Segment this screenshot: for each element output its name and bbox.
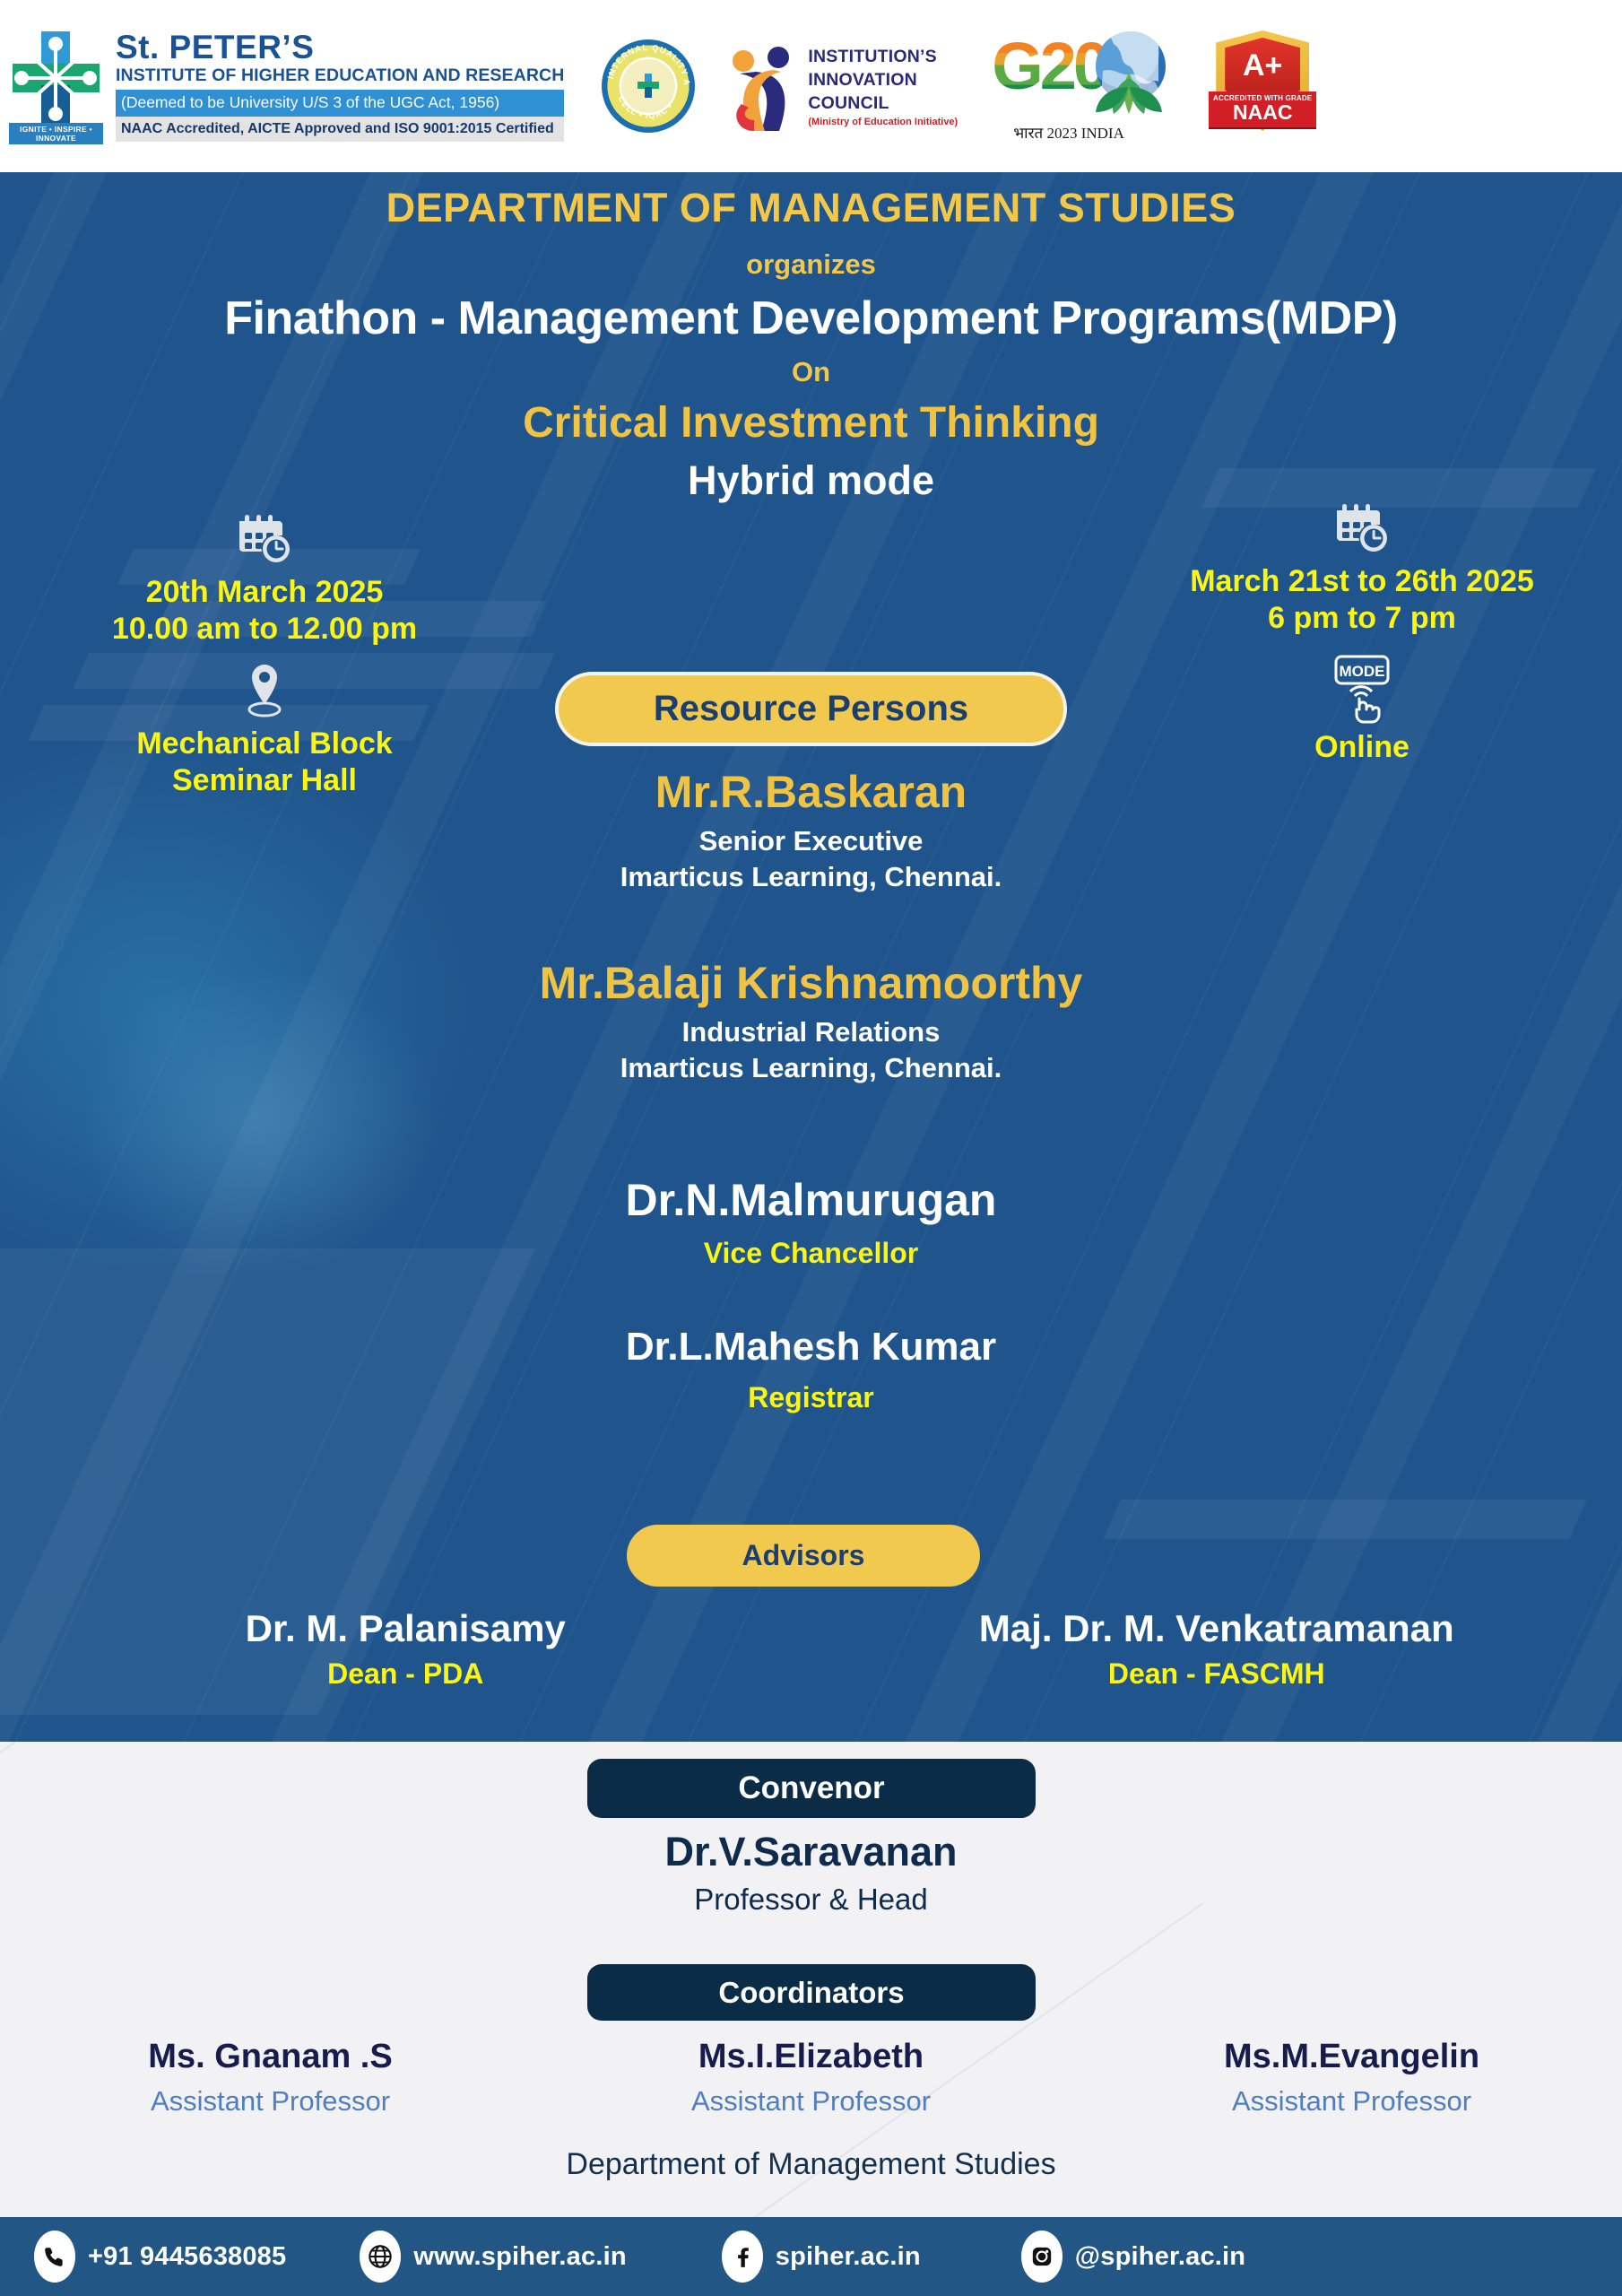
advisors-row: Dr. M. Palanisamy Dean - PDA Maj. Dr. M.… [0,1607,1622,1691]
resource-person-1-organization: Imarticus Learning, Chennai. [0,861,1622,893]
advisor-2-name: Maj. Dr. M. Venkatramanan [811,1607,1622,1650]
organizes-label: organizes [0,248,1622,281]
department-title: DEPARTMENT OF MANAGEMENT STUDIES [0,185,1622,231]
official-1-role: Vice Chancellor [0,1237,1622,1270]
coordinators-heading: Coordinators [587,1964,1036,2021]
advisor-2: Maj. Dr. M. Venkatramanan Dean - FASCMH [811,1607,1622,1691]
g20-lotus-icon [1089,69,1169,116]
background-glow-left-2 [72,961,448,1284]
official-1-name: Dr.N.Malmurugan [0,1174,1622,1226]
globe-icon [360,2231,401,2283]
poster-main-blue-section: DEPARTMENT OF MANAGEMENT STUDIES organiz… [0,172,1622,1742]
institution-logo-block: IGNITE • INSPIRE • INNOVATE St. PETER’S … [9,28,564,144]
offline-info-block: 20th March 2025 10.00 am to 12.00 pm Mec… [18,513,511,800]
offline-venue-line1: Mechanical Block [18,726,511,762]
footer-website[interactable]: www.spiher.ac.in [360,2231,626,2283]
footer-phone[interactable]: +91 9445638085 [34,2231,286,2283]
coordinators-department: Department of Management Studies [0,2147,1622,2182]
footer-instagram-label: @spiher.ac.in [1075,2242,1245,2272]
advisor-1-role: Dean - PDA [0,1657,811,1691]
footer-facebook-label: spiher.ac.in [776,2242,921,2272]
coordinator-1-name: Ms. Gnanam .S [0,2038,541,2076]
advisor-1: Dr. M. Palanisamy Dean - PDA [0,1607,811,1691]
program-title: Finathon - Management Development Progra… [0,291,1622,345]
footer-website-label: www.spiher.ac.in [413,2242,626,2272]
institution-name-line2: INSTITUTE OF HIGHER EDUCATION AND RESEAR… [116,65,564,87]
panel-stripe-1 [0,1742,28,2197]
program-mode: Hybrid mode [0,457,1622,504]
coordinator-2-role: Assistant Professor [541,2085,1081,2118]
logo-tagline: IGNITE • INSPIRE • INNOVATE [9,123,103,144]
phone-icon [34,2231,75,2283]
official-2-name: Dr.L.Mahesh Kumar [0,1325,1622,1370]
facebook-icon [722,2231,763,2283]
resource-persons-heading: Resource Persons [555,672,1067,746]
calendar-clock-icon [237,513,292,565]
naac-badge: A+ ACCREDITED WITH GRADE NAAC [1205,29,1320,143]
institution-name-block: St. PETER’S INSTITUTE OF HIGHER EDUCATIO… [116,30,564,143]
header-band: IGNITE • INSPIRE • INNOVATE St. PETER’S … [0,0,1622,172]
coordinator-1: Ms. Gnanam .S Assistant Professor [0,2038,541,2118]
naac-ribbon: ACCREDITED WITH GRADE NAAC [1209,91,1316,127]
online-time: 6 pm to 7 pm [1111,600,1613,637]
contact-footer: +91 9445638085 www.spiher.ac.in spih [0,2217,1622,2296]
online-date: March 21st to 26th 2025 [1111,563,1613,600]
iic-line1: INSTITUTION’S [808,45,958,68]
advisor-1-name: Dr. M. Palanisamy [0,1607,811,1650]
coordinator-1-role: Assistant Professor [0,2085,541,2118]
iqac-ring-text: INTERNAL QUALITY ASSURANCE CELL • IQAC • [602,39,695,133]
program-topic: Critical Investment Thinking [0,398,1622,448]
official-2-role: Registrar [0,1381,1622,1414]
on-label: On [0,356,1622,388]
iic-line3: COUNCIL [808,91,958,115]
iic-sub: (Ministry of Education Initiative) [808,117,958,127]
partner-logos: INTERNAL QUALITY ASSURANCE CELL • IQAC • [602,29,1320,143]
footer-phone-label: +91 9445638085 [88,2242,286,2272]
resource-person-2-role: Industrial Relations [0,1016,1622,1048]
convenor-role: Professor & Head [0,1883,1622,1917]
spiher-cross-logo-icon: IGNITE • INSPIRE • INNOVATE [9,28,103,144]
institution-name-line1: St. PETER’S [116,30,564,65]
coordinator-3-name: Ms.M.Evangelin [1081,2038,1622,2076]
online-mode-label: Online [1111,729,1613,766]
iqac-seal-icon: INTERNAL QUALITY ASSURANCE CELL • IQAC • [602,39,695,133]
institution-accreditation-line: NAAC Accredited, AICTE Approved and ISO … [116,117,564,143]
map-pin-icon [245,663,284,718]
resource-person-2-name: Mr.Balaji Krishnamoorthy [0,957,1622,1009]
coordinator-2-name: Ms.I.Elizabeth [541,2038,1081,2076]
instagram-icon [1021,2231,1063,2283]
g20-sub: भारत 2023 INDIA [1013,122,1124,143]
svg-text:INTERNAL QUALITY ASSURANCE: INTERNAL QUALITY ASSURANCE [602,39,692,86]
convenor-name: Dr.V.Saravanan [0,1829,1622,1875]
resource-person-2-organization: Imarticus Learning, Chennai. [0,1052,1622,1084]
svg-text:MODE: MODE [1340,663,1385,680]
iic-line2: INNOVATION [808,68,958,91]
svg-text:CELL • IQAC •: CELL • IQAC • [617,95,675,121]
resource-person-1-role: Senior Executive [0,825,1622,857]
calendar-clock-icon [1334,502,1390,554]
iic-mark-icon [729,38,799,135]
footer-facebook[interactable]: spiher.ac.in [722,2231,921,2283]
mode-tap-icon: MODE [1331,654,1393,724]
offline-date: 20th March 2025 [18,574,511,611]
iic-text-block: INSTITUTION’S INNOVATION COUNCIL (Minist… [808,45,958,128]
advisors-heading: Advisors [627,1525,980,1587]
footer-instagram[interactable]: @spiher.ac.in [1021,2231,1245,2283]
poster-canvas: IGNITE • INSPIRE • INNOVATE St. PETER’S … [0,0,1622,2296]
resource-person-1-name: Mr.R.Baskaran [0,766,1622,818]
coordinator-3-role: Assistant Professor [1081,2085,1622,2118]
naac-ribbon-big: NAAC [1209,102,1316,123]
convenor-heading: Convenor [587,1759,1036,1818]
coordinator-3: Ms.M.Evangelin Assistant Professor [1081,2038,1622,2118]
coordinator-2: Ms.I.Elizabeth Assistant Professor [541,2038,1081,2118]
organisers-panel: Convenor Dr.V.Saravanan Professor & Head… [0,1742,1622,2244]
offline-time: 10.00 am to 12.00 pm [18,611,511,648]
advisor-2-role: Dean - FASCMH [811,1657,1622,1691]
naac-grade: A+ [1205,48,1320,83]
online-info-block: March 21st to 26th 2025 6 pm to 7 pm MOD… [1111,502,1613,766]
coordinators-row: Ms. Gnanam .S Assistant Professor Ms.I.E… [0,2038,1622,2118]
institution-deemed-line: (Deemed to be University U/S 3 of the UG… [116,90,564,117]
iic-logo: INSTITUTION’S INNOVATION COUNCIL (Minist… [729,38,958,135]
g20-logo: G20 भारत 2023 INDIA [992,31,1171,141]
